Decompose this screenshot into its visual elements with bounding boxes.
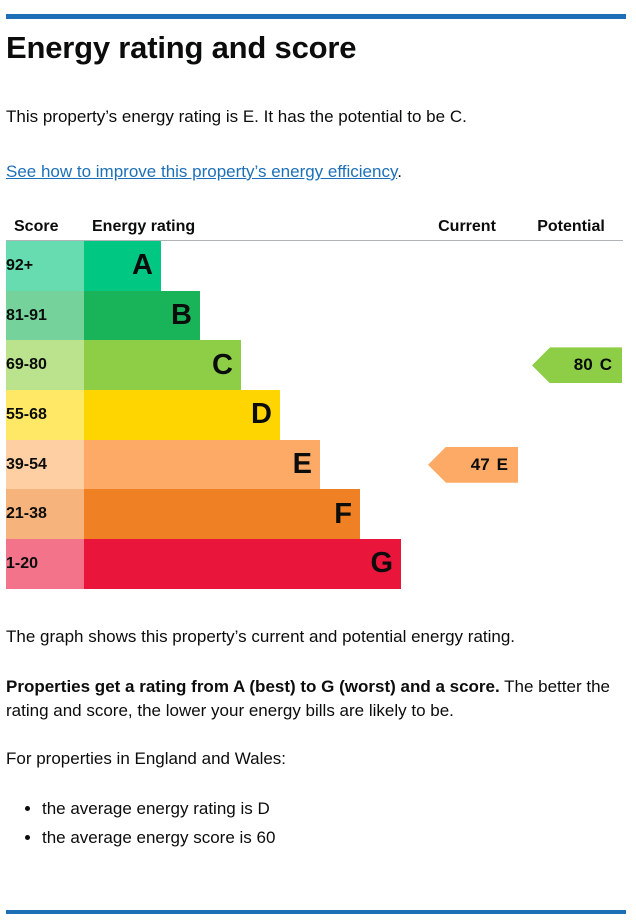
current-cell-f xyxy=(415,489,519,539)
rating-letter: F xyxy=(334,500,352,529)
rating-bar-cell-d: D xyxy=(84,390,415,440)
rating-bar-cell-g: G xyxy=(84,539,415,589)
score-band-d: 55-68 xyxy=(6,390,84,440)
current-cell-d xyxy=(415,390,519,440)
rating-explanation-bold: Properties get a rating from A (best) to… xyxy=(6,677,500,696)
table-row: 1-20G xyxy=(6,539,623,589)
average-list: the average energy rating is Dthe averag… xyxy=(6,797,626,850)
explanatory-text: The graph shows this property’s current … xyxy=(6,625,626,855)
rating-letter: A xyxy=(132,251,153,280)
table-header-row: Score Energy rating Current Potential xyxy=(6,213,623,241)
link-period: . xyxy=(397,162,402,181)
bottom-rule xyxy=(6,910,626,914)
potential-rating-marker: 80C xyxy=(532,347,622,383)
score-band-e: 39-54 xyxy=(6,440,84,490)
rating-bar-e: E xyxy=(84,440,320,490)
rating-letter: E xyxy=(293,450,312,479)
rating-letter: D xyxy=(251,400,272,429)
rating-explanation: Properties get a rating from A (best) to… xyxy=(6,675,626,723)
current-cell-b xyxy=(415,291,519,341)
score-band-b: 81-91 xyxy=(6,291,84,341)
intro-text: This property’s energy rating is E. It h… xyxy=(6,105,467,129)
rating-letter: B xyxy=(171,301,192,330)
column-header-energy-rating: Energy rating xyxy=(84,213,415,241)
table-row: 92+A xyxy=(6,241,623,291)
table-row: 55-68D xyxy=(6,390,623,440)
potential-cell-a xyxy=(519,241,623,291)
rating-bar-b: B xyxy=(84,291,200,341)
rating-bar-cell-a: A xyxy=(84,241,415,291)
potential-cell-g xyxy=(519,539,623,589)
energy-rating-table: Score Energy rating Current Potential 92… xyxy=(6,213,623,589)
rating-bar-g: G xyxy=(84,539,401,589)
table-row: 21-38F xyxy=(6,489,623,539)
current-cell-g xyxy=(415,539,519,589)
score-band-f: 21-38 xyxy=(6,489,84,539)
potential-cell-d xyxy=(519,390,623,440)
rating-letter: C xyxy=(212,351,233,380)
score-band-c: 69-80 xyxy=(6,340,84,390)
table-body: 92+A81-91B69-80C80C55-68D39-54E47E21-38F… xyxy=(6,241,623,589)
improve-efficiency-row: See how to improve this property’s energ… xyxy=(6,160,402,184)
rating-bar-cell-c: C xyxy=(84,340,415,390)
column-header-score: Score xyxy=(6,213,84,241)
potential-cell-b xyxy=(519,291,623,341)
list-item: the average energy score is 60 xyxy=(42,826,626,850)
score-band-g: 1-20 xyxy=(6,539,84,589)
rating-bar-c: C xyxy=(84,340,241,390)
current-cell-e: 47E xyxy=(415,440,519,490)
rating-bar-f: F xyxy=(84,489,360,539)
score-band-a: 92+ xyxy=(6,241,84,291)
page-title: Energy rating and score xyxy=(6,30,356,66)
epc-page: Energy rating and score This property’s … xyxy=(6,0,626,921)
rating-bar-cell-b: B xyxy=(84,291,415,341)
potential-score-value: 80 xyxy=(574,355,593,375)
potential-rating-letter: C xyxy=(600,355,612,375)
potential-cell-e xyxy=(519,440,623,490)
graph-caption: The graph shows this property’s current … xyxy=(6,625,626,649)
table-row: 81-91B xyxy=(6,291,623,341)
rating-letter: G xyxy=(370,549,393,578)
region-intro: For properties in England and Wales: xyxy=(6,747,626,771)
list-item: the average energy rating is D xyxy=(42,797,626,821)
rating-bar-d: D xyxy=(84,390,280,440)
current-rating-letter: E xyxy=(497,455,508,475)
current-score-value: 47 xyxy=(471,455,490,475)
potential-cell-f xyxy=(519,489,623,539)
rating-bar-a: A xyxy=(84,241,161,291)
table-row: 69-80C80C xyxy=(6,340,623,390)
column-header-potential: Potential xyxy=(519,213,623,241)
table-row: 39-54E47E xyxy=(6,440,623,490)
potential-cell-c: 80C xyxy=(519,340,623,390)
improve-efficiency-link[interactable]: See how to improve this property’s energ… xyxy=(6,162,397,181)
rating-bar-cell-f: F xyxy=(84,489,415,539)
top-rule xyxy=(6,14,626,19)
current-cell-a xyxy=(415,241,519,291)
current-rating-marker: 47E xyxy=(428,447,518,483)
column-header-current: Current xyxy=(415,213,519,241)
current-cell-c xyxy=(415,340,519,390)
rating-bar-cell-e: E xyxy=(84,440,415,490)
